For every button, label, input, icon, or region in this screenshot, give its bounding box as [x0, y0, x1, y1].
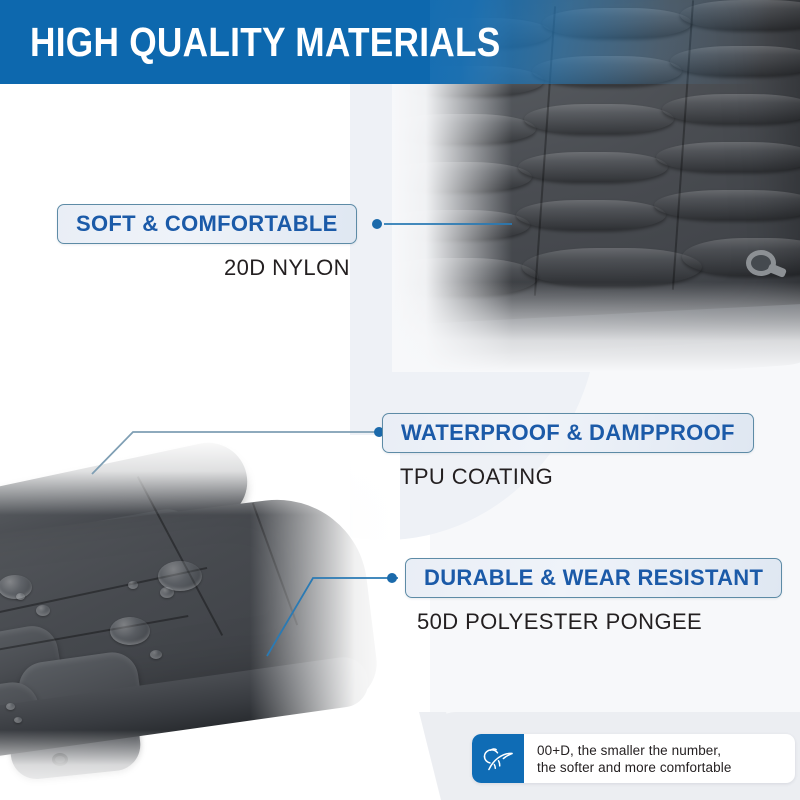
badge-text-block: 00+D, the smaller the number, the softer…: [524, 734, 795, 783]
callout-box[interactable]: WATERPROOF & DAMPPROOF: [382, 413, 754, 453]
infographic-canvas: SOFT & COMFORTABLE 20D NYLON WATERPROOF …: [0, 0, 800, 800]
callout-title: SOFT & COMFORTABLE: [76, 211, 338, 237]
callout-subtitle: TPU COATING: [400, 464, 754, 490]
callout-waterproof-dampproof[interactable]: WATERPROOF & DAMPPROOF TPU COATING: [382, 413, 754, 490]
callout-subtitle: 20D NYLON: [224, 255, 357, 281]
badge-line-2: the softer and more comfortable: [537, 759, 795, 776]
callout-soft-comfortable[interactable]: SOFT & COMFORTABLE 20D NYLON: [57, 204, 357, 281]
connector-dot-1: [372, 219, 382, 229]
hand-touching-fabric-icon: [472, 734, 524, 783]
hand-touching-fabric-glyph: [481, 744, 515, 774]
callout-title: DURABLE & WEAR RESISTANT: [424, 565, 763, 591]
callout-box[interactable]: SOFT & COMFORTABLE: [57, 204, 357, 244]
connector-dot-3: [387, 573, 397, 583]
connector-line-3: [267, 578, 398, 656]
callout-title: WATERPROOF & DAMPPROOF: [401, 420, 735, 446]
callout-connector-lines: [0, 0, 800, 800]
callout-durable-wear-resistant[interactable]: DURABLE & WEAR RESISTANT 50D POLYESTER P…: [405, 558, 782, 635]
callout-box[interactable]: DURABLE & WEAR RESISTANT: [405, 558, 782, 598]
header-banner: HIGH QUALITY MATERIALS: [0, 0, 800, 84]
connector-line-2: [92, 432, 375, 474]
badge-line-1: 00+D, the smaller the number,: [537, 742, 795, 759]
denier-info-badge[interactable]: 00+D, the smaller the number, the softer…: [472, 734, 795, 783]
page-title: HIGH QUALITY MATERIALS: [30, 22, 501, 63]
callout-subtitle: 50D POLYESTER PONGEE: [417, 609, 782, 635]
